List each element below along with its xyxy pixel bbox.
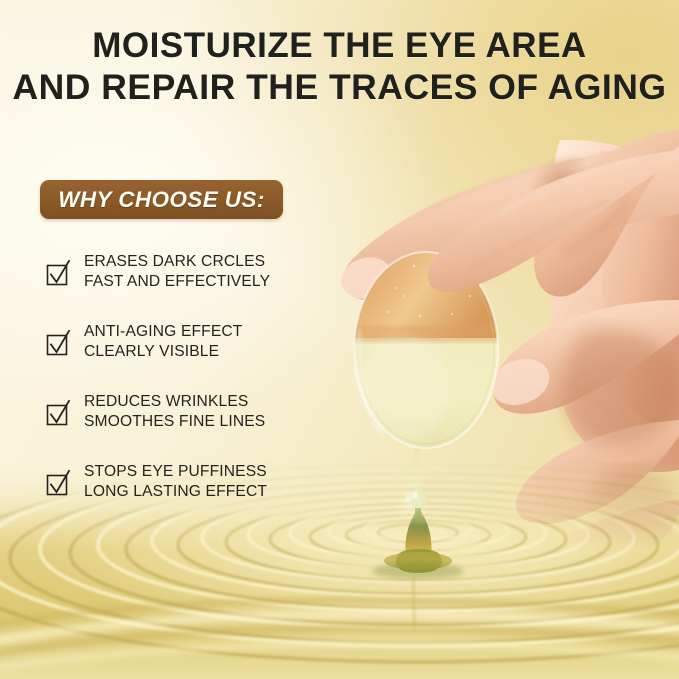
list-item-text: ANTI-AGING EFFECT CLEARLY VISIBLE [84, 322, 243, 362]
list-item: REDUCES WRINKLES SMOOTHES FINE LINES [44, 392, 314, 462]
list-item-text: STOPS EYE PUFFINESS LONG LASTING EFFECT [84, 462, 267, 502]
list-item: ERASES DARK CRCLES FAST AND EFFECTIVELY [44, 252, 314, 322]
list-item-line-2: CLEARLY VISIBLE [84, 342, 243, 362]
list-item-line-2: SMOOTHES FINE LINES [84, 412, 265, 432]
list-item-line-2: FAST AND EFFECTIVELY [84, 272, 270, 292]
page-title: MOISTURIZE THE EYE AREA AND REPAIR THE T… [0, 26, 679, 108]
list-item-line-2: LONG LASTING EFFECT [84, 482, 267, 502]
list-item: ANTI-AGING EFFECT CLEARLY VISIBLE [44, 322, 314, 392]
title-line-2: AND REPAIR THE TRACES OF AGING [0, 67, 679, 108]
list-item: STOPS EYE PUFFINESS LONG LASTING EFFECT [44, 462, 314, 532]
checkbox-checked-icon [44, 328, 74, 358]
product-banner: MOISTURIZE THE EYE AREA AND REPAIR THE T… [0, 0, 679, 679]
list-item-line-1: ERASES DARK CRCLES [84, 252, 270, 272]
why-choose-us-badge: WHY CHOOSE US: [40, 180, 283, 219]
list-item-text: ERASES DARK CRCLES FAST AND EFFECTIVELY [84, 252, 270, 292]
list-item-line-1: REDUCES WRINKLES [84, 392, 265, 412]
title-line-1: MOISTURIZE THE EYE AREA [0, 26, 679, 67]
list-item-text: REDUCES WRINKLES SMOOTHES FINE LINES [84, 392, 265, 432]
why-choose-us-label: WHY CHOOSE US: [58, 187, 264, 213]
checkbox-checked-icon [44, 258, 74, 288]
gel-eye-patch [352, 252, 502, 518]
checkbox-checked-icon [44, 398, 74, 428]
feature-list: ERASES DARK CRCLES FAST AND EFFECTIVELY … [44, 252, 314, 532]
checkbox-checked-icon [44, 468, 74, 498]
list-item-line-1: ANTI-AGING EFFECT [84, 322, 243, 342]
oil-splash-droplet [372, 488, 464, 629]
list-item-line-1: STOPS EYE PUFFINESS [84, 462, 267, 482]
